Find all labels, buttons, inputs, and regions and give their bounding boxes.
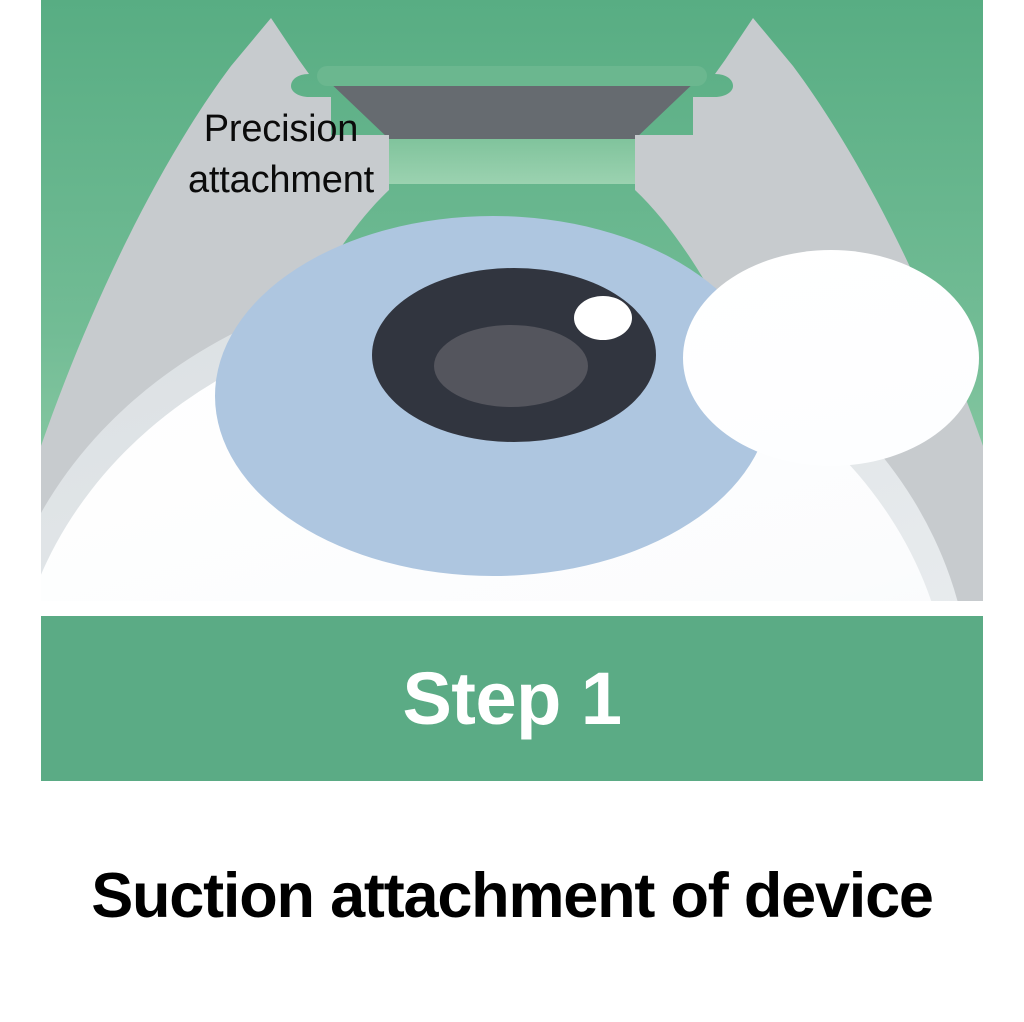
suction-device-body (325, 78, 699, 139)
page-root: Precision attachment Step 1 Suction atta… (0, 0, 1024, 1022)
pupil-specular-highlight (574, 296, 632, 340)
step-banner: Step 1 (41, 616, 983, 781)
corneal-glare (683, 250, 979, 466)
figure-caption: Suction attachment of device (0, 862, 1024, 931)
suction-device-shaft (389, 132, 635, 184)
eye-suction-device-illustration (41, 0, 983, 601)
pupil-inner-reflection (434, 325, 588, 407)
step-banner-label: Step 1 (402, 662, 621, 736)
suction-device-rim (317, 66, 707, 86)
illustration-panel: Precision attachment (41, 0, 983, 601)
